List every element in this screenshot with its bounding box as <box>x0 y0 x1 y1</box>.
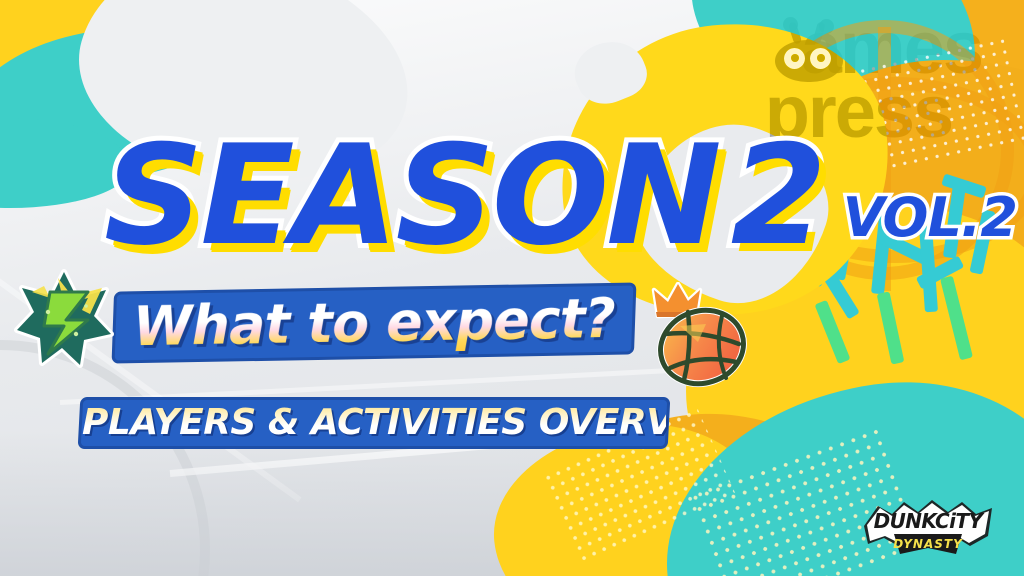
subtitle-text: What to expect? <box>115 286 633 361</box>
headline-group: SEASON 2 VOL.2 <box>104 128 1017 263</box>
poster-canvas: ames press SEASON 2 VOL.2 What to expect… <box>0 0 1024 576</box>
dunkcity-wordmark: DUNKCiTY <box>874 509 986 533</box>
page-title: SEASON <box>104 128 719 263</box>
bug-mascot-icon <box>769 22 847 80</box>
star-badge-icon <box>14 268 114 368</box>
volume-label: VOL.2 <box>843 186 1017 249</box>
basketball-crown-group <box>640 282 750 390</box>
tagline-text: PLAYERS & ACTIVITIES OVERVIEW <box>82 400 666 446</box>
season-number: 2 <box>731 128 827 263</box>
tagline-banner: PLAYERS & ACTIVITIES OVERVIEW <box>81 400 667 446</box>
dynasty-wordmark: DYNASTY <box>893 537 963 551</box>
dunkcity-dynasty-logo: DUNKCiTY DYNASTY <box>858 492 998 562</box>
subtitle-banner: What to expect? <box>115 286 634 361</box>
